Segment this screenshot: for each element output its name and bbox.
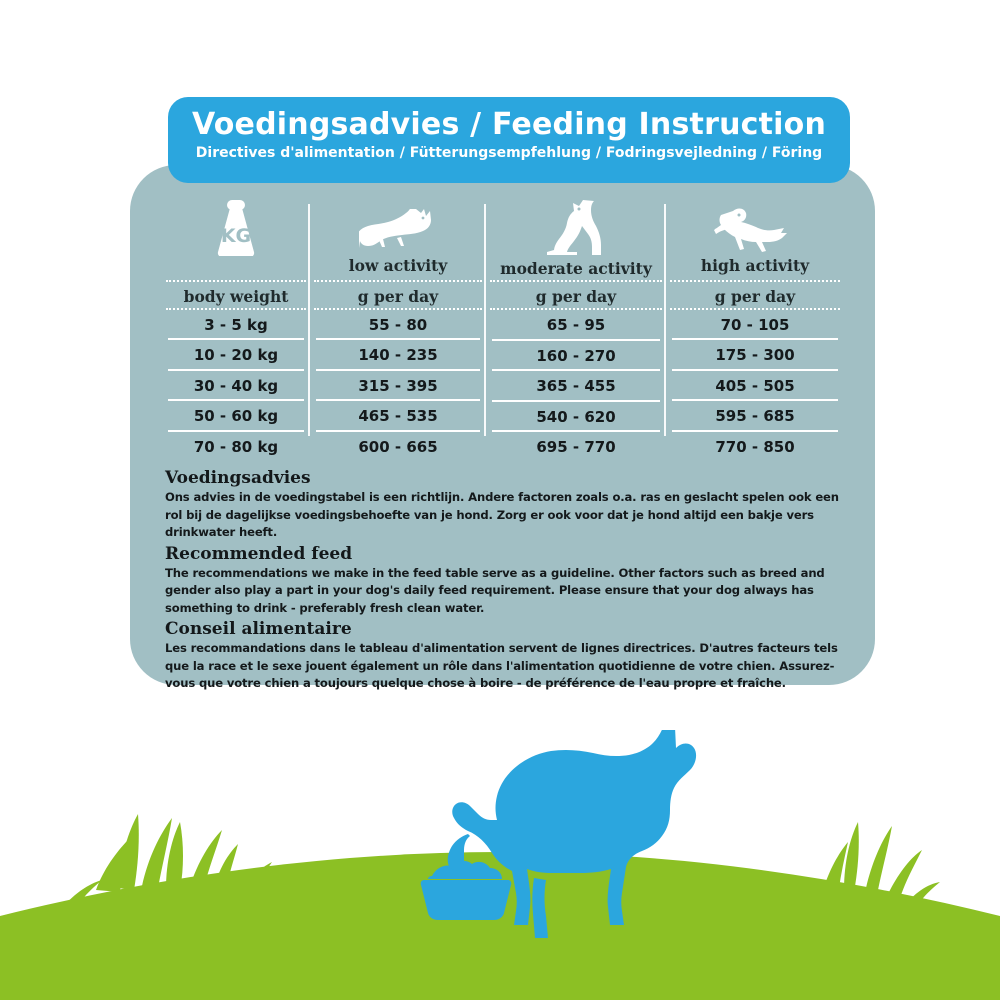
bottom-illustration (0, 730, 1000, 1000)
table-column-low-activity: low activity g per day 55 - 80 140 - 235… (310, 198, 486, 462)
table-cell: 770 - 850 (672, 432, 838, 463)
feeding-table: KG body weight 3 - 5 kg 10 - 20 kg 30 - … (162, 198, 844, 462)
column-divider (664, 204, 666, 436)
column-header-high-activity: high activity (666, 255, 844, 279)
table-cell: 50 - 60 kg (168, 401, 304, 432)
section-heading-nl: Voedingsadvies (165, 468, 855, 489)
kg-weight-icon: KG (162, 198, 310, 258)
column-unit-low: g per day (314, 280, 482, 310)
table-cell: 175 - 300 (672, 340, 838, 371)
header-banner: Voedingsadvies / Feeding Instruction Dir… (168, 97, 850, 183)
page-title: Voedingsadvies / Feeding Instruction (168, 106, 850, 144)
page-subtitle: Directives d'alimentation / Fütterungsem… (168, 144, 850, 163)
advisory-text: Voedingsadvies Ons advies in de voedings… (165, 466, 855, 693)
table-cell: 70 - 105 (672, 310, 838, 341)
table-cell: 465 - 535 (316, 401, 480, 432)
column-unit-body-weight: body weight (166, 280, 306, 310)
table-cell: 160 - 270 (492, 341, 660, 372)
table-cell: 65 - 95 (492, 310, 660, 341)
feeding-instruction-page: Voedingsadvies / Feeding Instruction Dir… (0, 0, 1000, 1000)
table-cell: 315 - 395 (316, 371, 480, 402)
column-header-moderate-activity: moderate activity (486, 258, 666, 280)
svg-text:KG: KG (221, 225, 251, 247)
table-cell: 10 - 20 kg (168, 340, 304, 371)
section-body-nl: Ons advies in de voedingstabel is een ri… (165, 489, 855, 542)
table-cell: 695 - 770 (492, 432, 660, 463)
table-cell: 140 - 235 (316, 340, 480, 371)
section-body-fr: Les recommandations dans le tableau d'al… (165, 640, 855, 693)
dog-sitting-icon (486, 198, 666, 258)
table-cell: 30 - 40 kg (168, 371, 304, 402)
column-header-blank (162, 258, 310, 280)
column-header-low-activity: low activity (310, 255, 486, 279)
column-divider (484, 204, 486, 436)
table-column-high-activity: high activity g per day 70 - 105 175 - 3… (666, 198, 844, 462)
table-cell: 600 - 665 (316, 432, 480, 463)
table-cell: 365 - 455 (492, 371, 660, 402)
column-unit-moderate: g per day (490, 280, 662, 310)
column-unit-high: g per day (670, 280, 840, 310)
dog-lying-icon (310, 198, 486, 255)
section-heading-en: Recommended feed (165, 544, 855, 565)
section-body-en: The recommendations we make in the feed … (165, 565, 855, 618)
table-cell: 595 - 685 (672, 401, 838, 432)
table-cell: 405 - 505 (672, 371, 838, 402)
dog-running-icon (666, 198, 844, 255)
table-column-moderate-activity: moderate activity g per day 65 - 95 160 … (486, 198, 666, 462)
table-cell: 70 - 80 kg (168, 432, 304, 463)
table-cell: 55 - 80 (316, 310, 480, 341)
section-heading-fr: Conseil alimentaire (165, 619, 855, 640)
column-divider (308, 204, 310, 436)
table-cell: 3 - 5 kg (168, 310, 304, 341)
table-cell: 540 - 620 (492, 402, 660, 433)
table-column-body-weight: KG body weight 3 - 5 kg 10 - 20 kg 30 - … (162, 198, 310, 462)
